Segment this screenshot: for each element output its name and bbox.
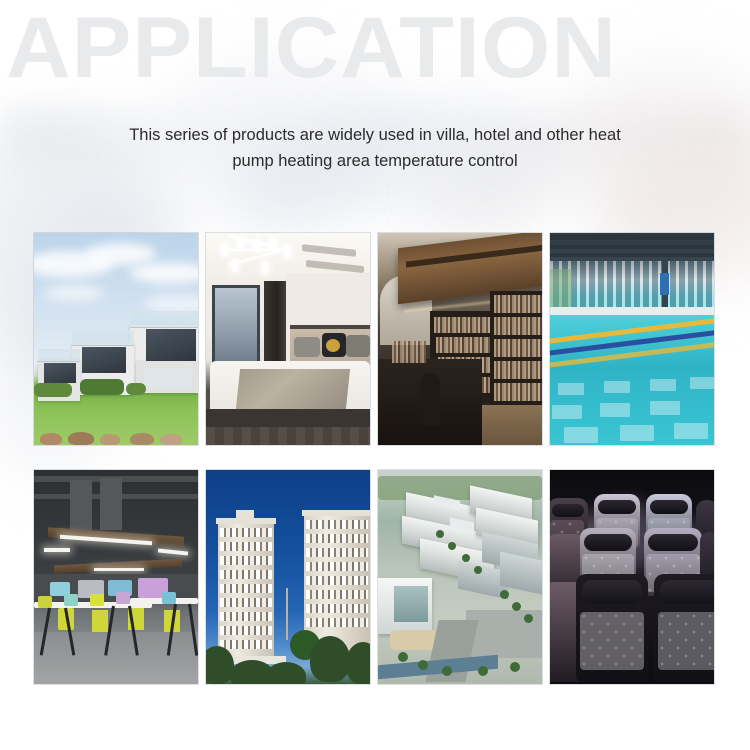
gallery-image-pool: Indoor swimming pool with lane dividers <box>550 233 714 445</box>
gallery-image-library: Library interior with wooden balcony and… <box>378 233 542 445</box>
gallery-image-bedroom: Hotel bedroom with chandelier and large … <box>206 233 370 445</box>
section-subtitle: This series of products are widely used … <box>50 122 700 174</box>
gallery-image-towers: Residential high-rise apartment towers u… <box>206 470 370 684</box>
page-title-watermark: APPLICATION <box>6 0 750 98</box>
gallery-image-theater: Rows of dark cinema theater seats <box>550 470 714 684</box>
gallery-image-villa: Modern white villas with glass balconies… <box>34 233 198 445</box>
gallery-image-campus: Aerial view of a campus and industrial p… <box>378 470 542 684</box>
application-section: APPLICATION This series of products are … <box>0 0 750 750</box>
gallery-image-office: Open-plan office with exposed ceiling an… <box>34 470 198 684</box>
application-image-grid: Modern white villas with glass balconies… <box>34 233 716 684</box>
subtitle-line-2: pump heating area temperature control <box>50 148 700 174</box>
subtitle-line-1: This series of products are widely used … <box>50 122 700 148</box>
